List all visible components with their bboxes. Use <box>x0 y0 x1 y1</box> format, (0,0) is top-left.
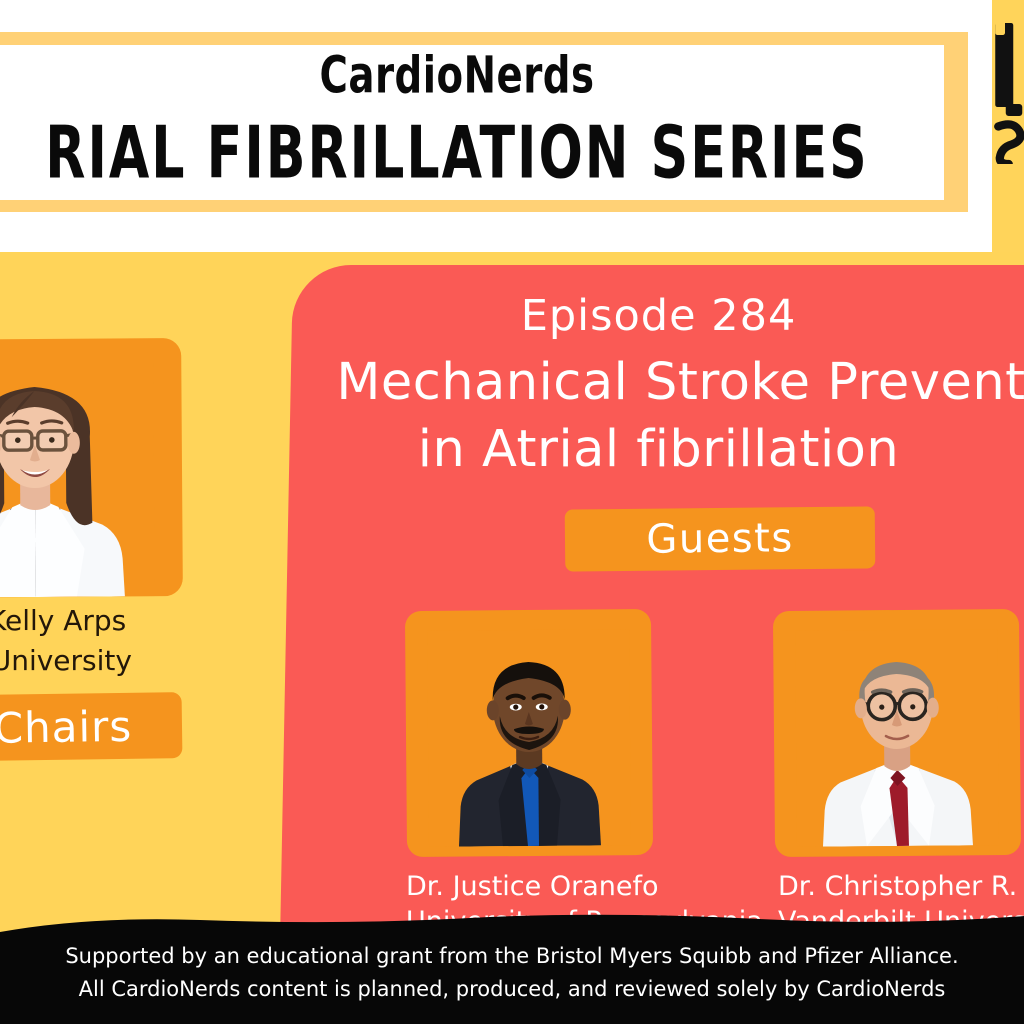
guest-photo <box>795 629 999 847</box>
chair-photo <box>0 352 155 598</box>
logo-glyph-icon <box>992 14 1024 164</box>
brand-title: CardioNerds <box>319 51 594 102</box>
guest-name: Dr. Christopher R. El <box>774 870 1020 905</box>
portrait-justice-oranefo-illustration <box>427 629 631 847</box>
chair-name: Dr. Kelly Arps <box>0 604 158 637</box>
chair-photo-frame <box>0 338 183 598</box>
chairs-label: Chairs <box>0 701 133 752</box>
series-title: RIAL FIBRILLATION SERIES <box>45 116 868 189</box>
episode-title-line-2: in Atrial fibrillation <box>293 420 1024 479</box>
guest-photo-frame <box>773 609 1021 857</box>
cardionerds-episode-poster: Episode 284 Mechanical Stroke Prevent in… <box>0 0 1024 1024</box>
episode-title-line-1: Mechanical Stroke Prevent <box>291 353 1024 412</box>
guest-card: Dr. Christopher R. El Vanderbilt Univers… <box>774 610 1020 939</box>
footer-bar: Supported by an educational grant from t… <box>0 932 1024 1024</box>
header-inner-plate: CardioNerds RIAL FIBRILLATION SERIES <box>0 45 944 200</box>
guests-label: Guests <box>646 515 794 563</box>
portrait-kelly-arps-illustration <box>0 352 155 598</box>
chairs-section-banner: Chairs <box>0 692 182 762</box>
cardionerds-logo-mark <box>992 0 1024 252</box>
footer-line-1: Supported by an educational grant from t… <box>0 940 1024 973</box>
main-content-area: Episode 284 Mechanical Stroke Prevent in… <box>293 265 1024 965</box>
guest-photo-frame <box>405 609 653 857</box>
footer-wave-edge <box>0 910 1024 944</box>
chair-affiliation: Duke University <box>0 644 146 677</box>
footer-line-2: All CardioNerds content is planned, prod… <box>0 973 1024 1006</box>
header-logo-gap <box>968 0 992 252</box>
guest-photo <box>427 629 631 847</box>
guests-section-banner: Guests <box>565 506 876 571</box>
episode-number: Episode 284 <box>293 291 1024 341</box>
guest-name: Dr. Justice Oranefo <box>406 870 652 905</box>
portrait-christopher-ellis-illustration <box>795 629 999 847</box>
footer-disclaimer: Supported by an educational grant from t… <box>0 940 1024 1005</box>
guest-card: Dr. Justice Oranefo University of Pennsy… <box>406 610 652 939</box>
